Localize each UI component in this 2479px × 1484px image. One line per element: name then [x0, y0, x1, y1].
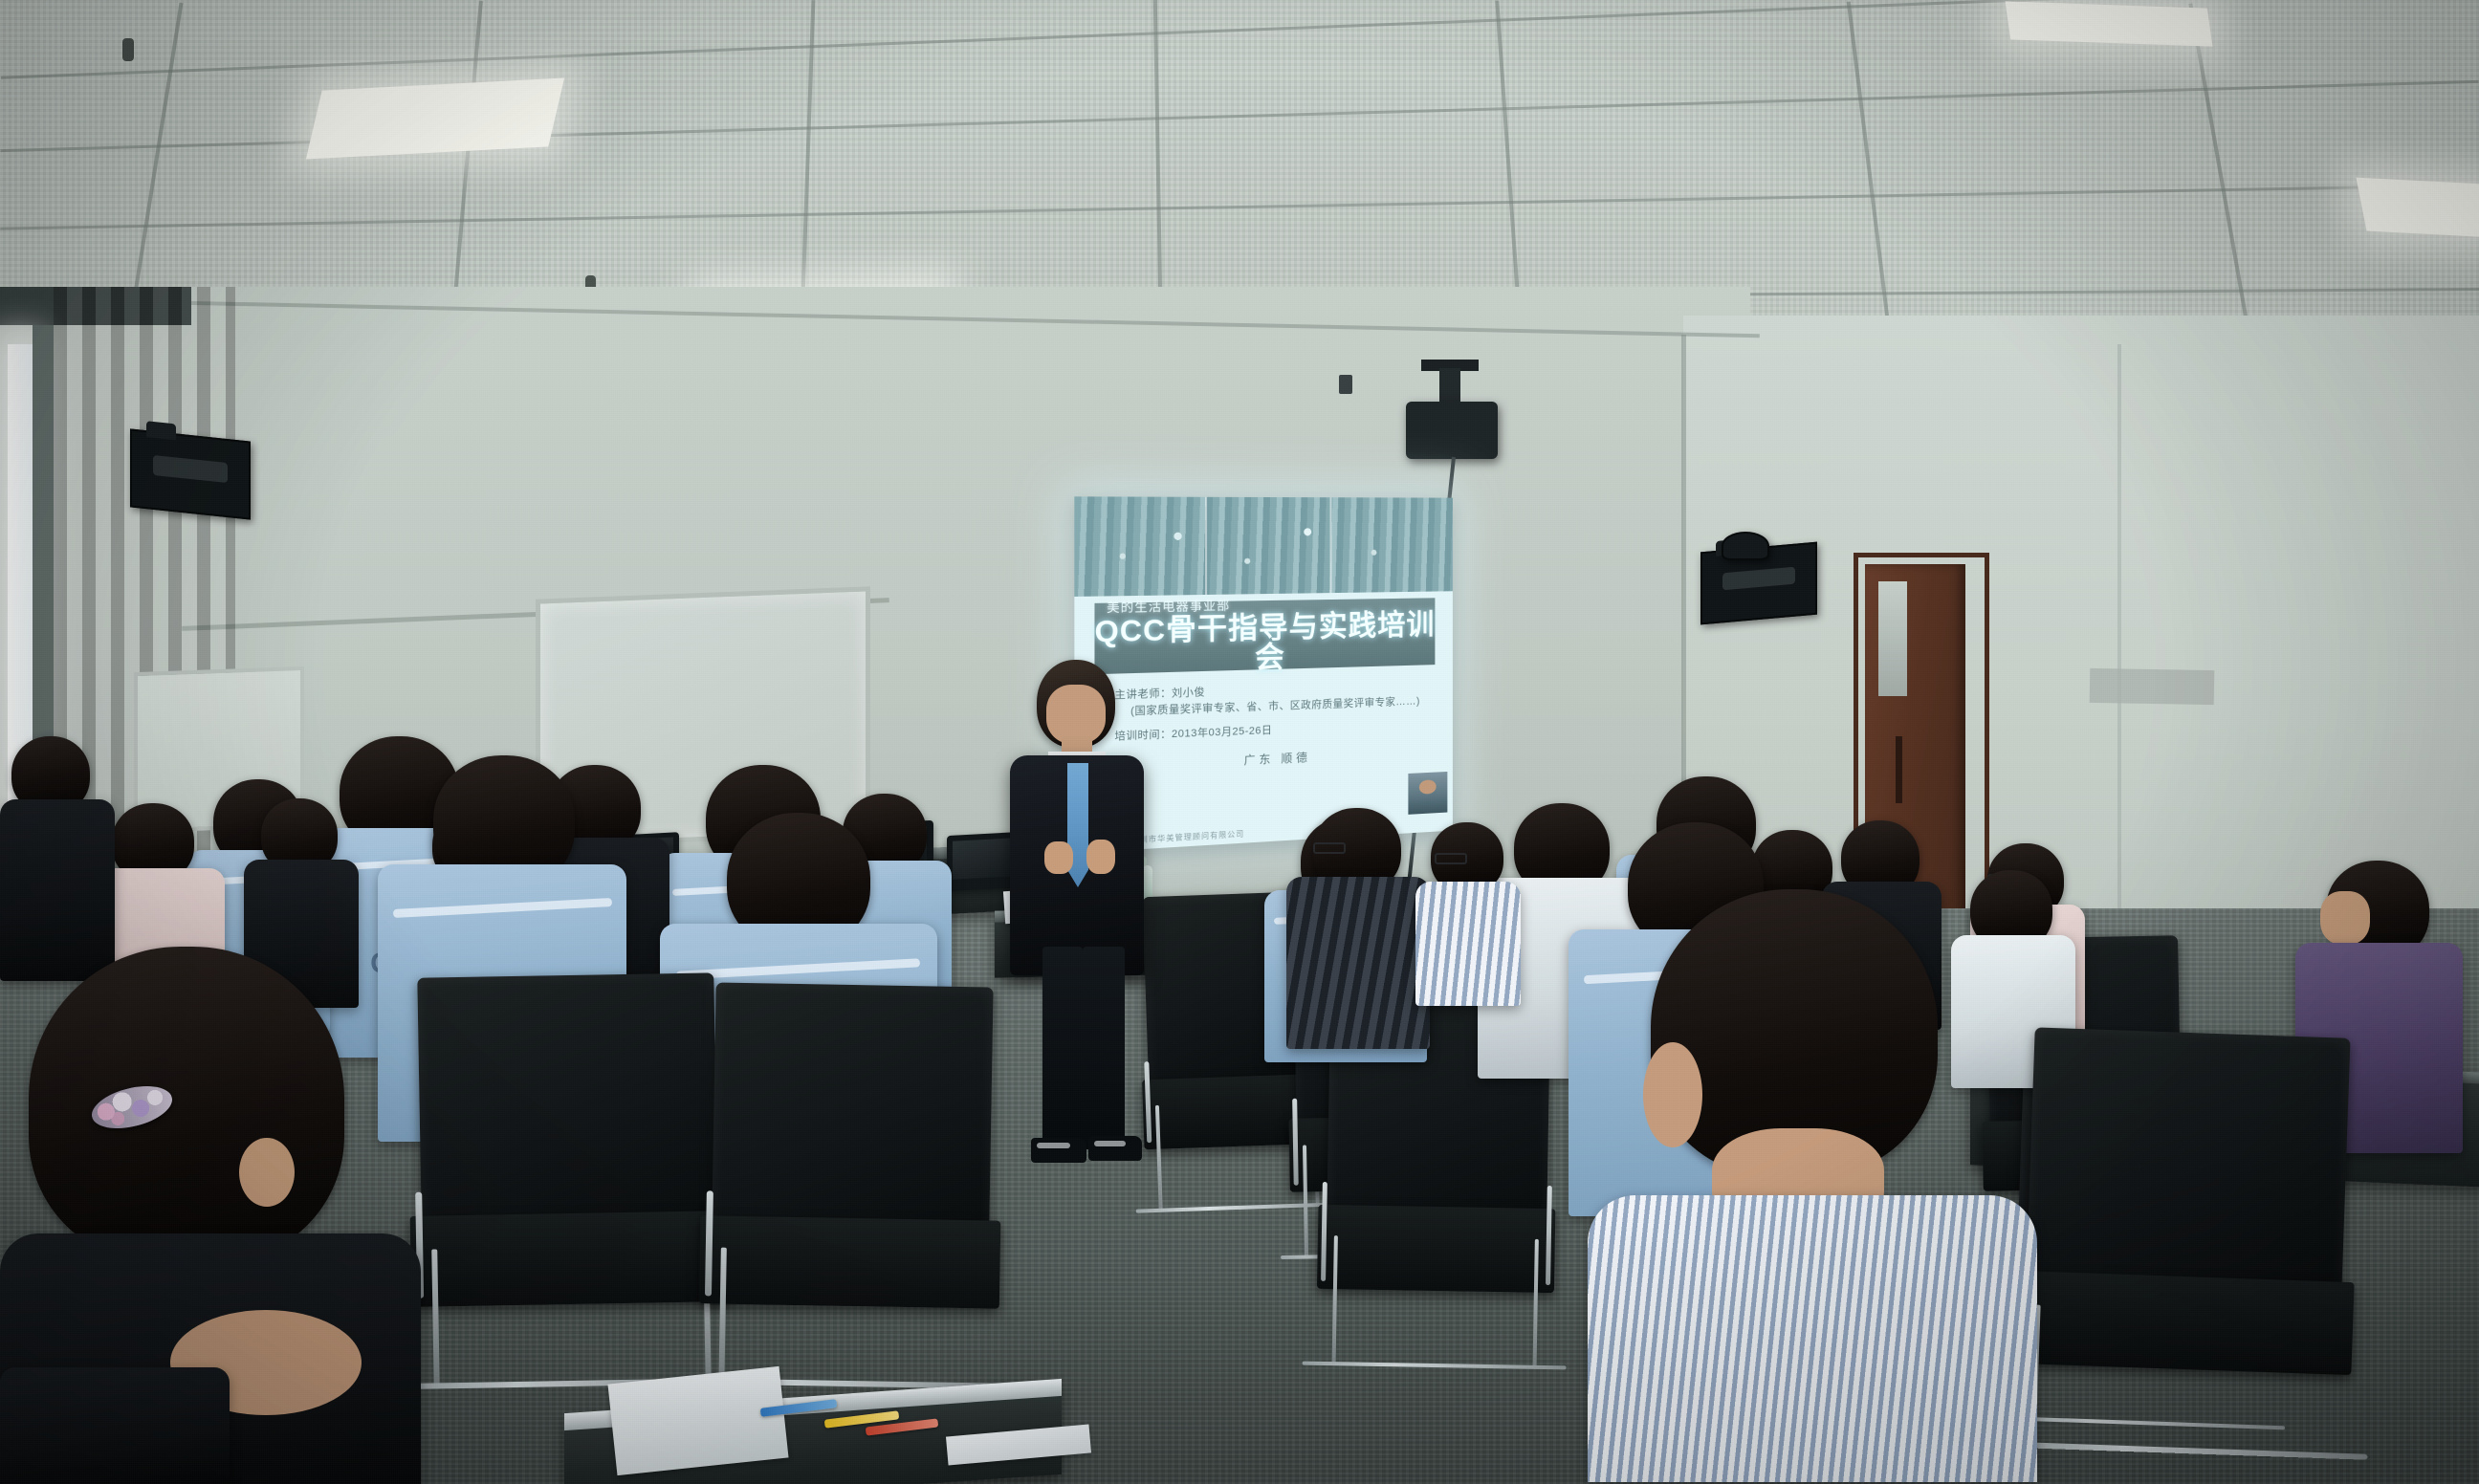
wall-camera: [1722, 532, 1769, 560]
presenter-face: [1046, 685, 1106, 744]
presenter: [985, 660, 1167, 1167]
speaker-cone-icon: [1722, 566, 1795, 590]
presenter-shoe: [1088, 1136, 1142, 1161]
attendee-head: [29, 947, 344, 1262]
notebook[interactable]: [607, 1366, 788, 1475]
ceiling-light-panel: [2006, 1, 2213, 46]
presenter-hand: [1086, 840, 1115, 874]
attendee-torso: [0, 1367, 230, 1484]
presenter-leg: [1083, 947, 1125, 1149]
attendee-face: [2320, 891, 2370, 945]
chair-seat: [699, 1215, 1000, 1309]
ceiling-light-panel: [2357, 178, 2479, 240]
presenter-hand: [1044, 841, 1073, 874]
chair-seat: [409, 1211, 731, 1306]
front-chair[interactable]: [417, 972, 720, 1388]
slide-header-photo: [1074, 496, 1453, 596]
chair-leg: [718, 1248, 726, 1385]
attendee-torso: [1588, 1195, 2037, 1482]
training-room-photo: 美的生活电器事业部 QCC骨干指导与实践培训会 主讲老师：刘小俊 (国家质量奖评…: [0, 0, 2479, 1484]
chair-backrest: [712, 983, 994, 1236]
chair-backrest: [2026, 1027, 2350, 1298]
speaker-cone-icon: [153, 455, 228, 482]
ceiling-sprinkler-icon: [122, 38, 134, 61]
foreground-attendee: [0, 1367, 230, 1484]
chair-seat: [1317, 1205, 1556, 1293]
wall-strip: [2090, 668, 2215, 705]
speaker-bracket: [146, 421, 177, 440]
front-chair[interactable]: [2020, 1027, 2350, 1458]
ceiling-light-panel: [306, 78, 564, 160]
chair-seat: [2010, 1271, 2355, 1375]
presenter-shoe: [1031, 1138, 1086, 1163]
attendee: [1415, 822, 1521, 1004]
attendee-ear: [1643, 1042, 1702, 1147]
front-chair[interactable]: [709, 983, 993, 1389]
wall-seam: [2117, 344, 2121, 937]
eyeglasses-icon: [1313, 842, 1346, 854]
chair-backrest: [417, 972, 718, 1233]
ceiling-hook-icon: [1339, 375, 1352, 394]
attendee-torso: [1415, 882, 1521, 1006]
eyeglasses-icon: [1435, 853, 1467, 864]
attendee-torso: [1286, 877, 1430, 1049]
wall-speaker: [130, 428, 251, 519]
presenter-leg: [1042, 947, 1083, 1147]
ceiling-projector: [1406, 402, 1498, 459]
uniform-shoulder-stripe: [393, 898, 612, 918]
door-window: [1878, 581, 1907, 696]
attendee-ear: [239, 1138, 295, 1207]
door-handle[interactable]: [1896, 736, 1902, 803]
attendee: [1286, 808, 1430, 1047]
foreground-attendee-striped: [1607, 889, 2008, 1484]
